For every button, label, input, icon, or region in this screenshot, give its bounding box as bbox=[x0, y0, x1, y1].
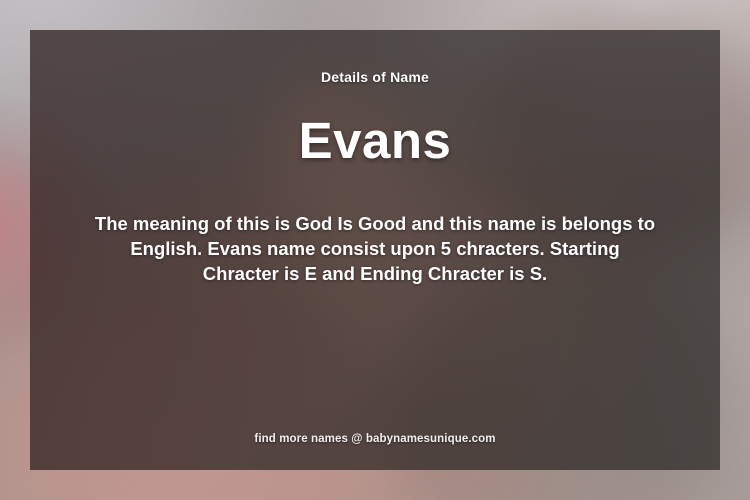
footer-attribution: find more names @ babynamesunique.com bbox=[30, 433, 720, 445]
name-description: The meaning of this is God Is Good and t… bbox=[91, 211, 659, 286]
name-heading: Evans bbox=[299, 115, 452, 166]
details-card: Details of Name Evans The meaning of thi… bbox=[30, 30, 720, 470]
name-details-card-image: Details of Name Evans The meaning of thi… bbox=[0, 0, 750, 500]
card-title: Details of Name bbox=[321, 69, 429, 85]
